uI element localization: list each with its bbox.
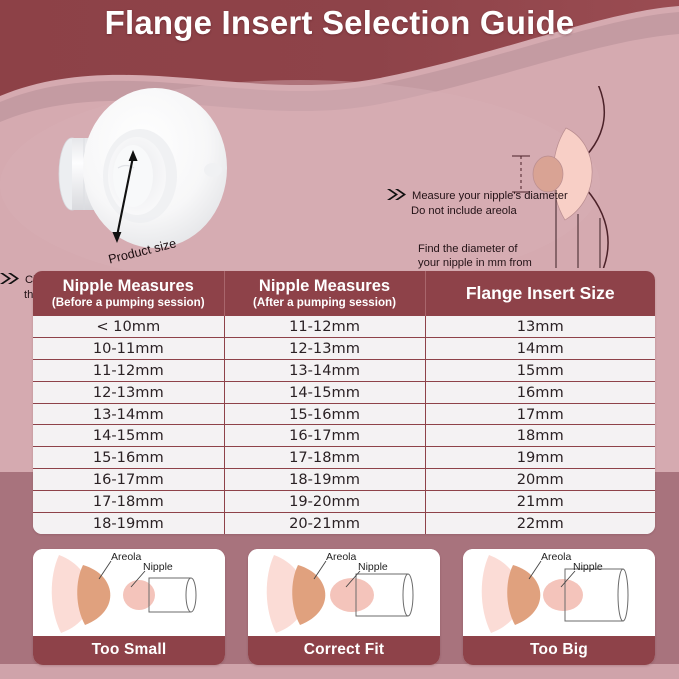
table-cell: 12-13mm (224, 338, 425, 360)
table-body: < 10mm11-12mm13mm10-11mm12-13mm14mm11-12… (33, 316, 655, 534)
card-areola-label: Areola (111, 551, 142, 563)
fit-card-illustration: AreolaNipple (33, 549, 225, 636)
table-cell: 13mm (425, 316, 655, 338)
table-row: 14-15mm16-17mm18mm (33, 425, 655, 447)
table-cell: 14mm (425, 338, 655, 360)
fit-card-label: Too Big (463, 636, 655, 665)
table-cell: 11-12mm (224, 316, 425, 338)
fit-card-label: Too Small (33, 636, 225, 665)
table-cell: 15mm (425, 360, 655, 382)
size-table: Nipple Measures (Before a pumping sessio… (33, 271, 655, 534)
card-nipple-label: Nipple (358, 561, 388, 573)
card-areola-label: Areola (541, 551, 572, 563)
right-note-line1: Measure your nipple's diameter (412, 190, 568, 202)
table-cell: < 10mm (33, 316, 224, 338)
table-cell: 11-12mm (33, 360, 224, 382)
table-cell: 14-15mm (33, 425, 224, 447)
fit-card-illustration: AreolaNipple (463, 549, 655, 636)
right-note-line2: Do not include areola (411, 205, 517, 219)
table-row: 17-18mm19-20mm21mm (33, 490, 655, 512)
table-cell: 18-19mm (224, 469, 425, 491)
fit-examples: AreolaNippleToo SmallAreolaNippleCorrect… (33, 549, 655, 665)
table-cell: 14-15mm (224, 381, 425, 403)
table-row: 12-13mm14-15mm16mm (33, 381, 655, 403)
find-line2: your nipple in mm from (418, 257, 532, 269)
table-cell: 18-19mm (33, 512, 224, 534)
table-cell: 20-21mm (224, 512, 425, 534)
column-header-insert-size-main: Flange Insert Size (428, 283, 654, 303)
table-cell: 22mm (425, 512, 655, 534)
illustration-band: Choose correct size 3-5mm larger than yo… (0, 86, 679, 268)
nipple-shape (533, 156, 563, 192)
column-header-before: Nipple Measures (Before a pumping sessio… (33, 271, 224, 316)
table-cell: 10-11mm (33, 338, 224, 360)
table-row: 13-14mm15-16mm17mm (33, 403, 655, 425)
fit-card-label: Correct Fit (248, 636, 440, 665)
table-cell: 19-20mm (224, 490, 425, 512)
table-row: 10-11mm12-13mm14mm (33, 338, 655, 360)
column-header-after-main: Nipple Measures (227, 277, 423, 296)
double-chevron-right-icon-2 (387, 189, 409, 205)
table-cell: 15-16mm (33, 447, 224, 469)
nipple-shape (123, 580, 155, 610)
flange-size-table: Nipple Measures (Before a pumping sessio… (33, 271, 655, 534)
table-cell: 16-17mm (224, 425, 425, 447)
table-row: 11-12mm13-14mm15mm (33, 360, 655, 382)
table-cell: 17-18mm (33, 490, 224, 512)
table-row: 16-17mm18-19mm20mm (33, 469, 655, 491)
table-cell: 16-17mm (33, 469, 224, 491)
table-cell: 13-14mm (33, 403, 224, 425)
table-cell: 12-13mm (33, 381, 224, 403)
areola-shape (77, 565, 110, 625)
table-cell: 18mm (425, 425, 655, 447)
page-title: Flange Insert Selection Guide (0, 4, 679, 42)
table-cell: 17-18mm (224, 447, 425, 469)
fit-card-small[interactable]: AreolaNippleToo Small (33, 549, 225, 665)
table-row: 15-16mm17-18mm19mm (33, 447, 655, 469)
table-header-row: Nipple Measures (Before a pumping sessio… (33, 271, 655, 316)
table-row: < 10mm11-12mm13mm (33, 316, 655, 338)
column-header-before-sub: (Before a pumping session) (35, 296, 222, 309)
column-header-after: Nipple Measures (After a pumping session… (224, 271, 425, 316)
fit-card-correct[interactable]: AreolaNippleCorrect Fit (248, 549, 440, 665)
column-header-before-main: Nipple Measures (35, 277, 222, 296)
areola-shape (507, 565, 540, 625)
table-cell: 13-14mm (224, 360, 425, 382)
areola-shape (292, 565, 325, 625)
card-nipple-label: Nipple (143, 561, 173, 573)
table-cell: 19mm (425, 447, 655, 469)
find-line1: Find the diameter of (418, 243, 518, 255)
nipple-shape (330, 578, 374, 612)
double-chevron-right-icon (0, 273, 22, 289)
nipple-shape (543, 579, 583, 611)
table-header: Nipple Measures (Before a pumping sessio… (33, 271, 655, 316)
right-instruction-note: Measure your nipple's diameter Do not in… (387, 189, 568, 218)
card-areola-label: Areola (326, 551, 357, 563)
card-nipple-label: Nipple (573, 561, 603, 573)
column-header-after-sub: (After a pumping session) (227, 296, 423, 309)
table-row: 18-19mm20-21mm22mm (33, 512, 655, 534)
breast-anatomy-illustration (0, 86, 679, 268)
flange-guide-page: Flange Insert Selection Guide (0, 0, 679, 679)
fit-card-illustration: AreolaNipple (248, 549, 440, 636)
measurement-bracket (512, 156, 530, 192)
column-header-insert-size: Flange Insert Size (425, 271, 655, 316)
table-cell: 15-16mm (224, 403, 425, 425)
table-cell: 20mm (425, 469, 655, 491)
fit-card-big[interactable]: AreolaNippleToo Big (463, 549, 655, 665)
flange-tube-shape (149, 578, 196, 612)
table-cell: 21mm (425, 490, 655, 512)
table-cell: 16mm (425, 381, 655, 403)
table-cell: 17mm (425, 403, 655, 425)
